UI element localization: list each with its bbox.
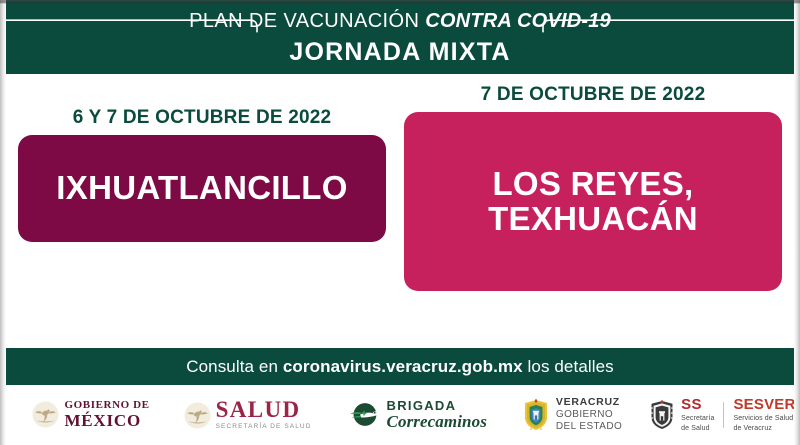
logo-veracruz-gobierno: VERACRUZ GOBIERNO DEL ESTADO bbox=[521, 396, 622, 433]
location-name-box: IXHUATLANCILLO bbox=[18, 135, 386, 242]
page-edge-top bbox=[0, 0, 800, 4]
logo-text: SALUD SECRETARÍA DE SALUD bbox=[216, 398, 312, 431]
logo-ss-secretaria-de-salud: SS Secretaría de Salud bbox=[648, 397, 714, 432]
header-deco-line-right bbox=[538, 19, 800, 33]
logo-text: SS Secretaría de Salud bbox=[681, 397, 714, 432]
veracruz-health-seal-icon bbox=[648, 400, 676, 430]
logo-divider bbox=[723, 402, 724, 428]
salud-line1: SALUD bbox=[216, 398, 312, 421]
consult-url[interactable]: coronavirus.veracruz.gob.mx bbox=[283, 357, 523, 376]
ss-line2b: de Salud bbox=[681, 424, 714, 433]
location-name: IXHUATLANCILLO bbox=[56, 171, 347, 206]
roadrunner-bird-logo-icon bbox=[348, 401, 382, 428]
header-deco-line-left bbox=[0, 19, 262, 33]
veracruz-line2: GOBIERNO bbox=[556, 409, 622, 421]
logo-text: VERACRUZ GOBIERNO DEL ESTADO bbox=[556, 396, 622, 433]
sesver-line2b: de Veracruz bbox=[733, 424, 795, 433]
veracruz-coat-of-arms-icon bbox=[521, 399, 551, 431]
salud-line2: SECRETARÍA DE SALUD bbox=[216, 423, 312, 431]
consult-suffix: los detalles bbox=[523, 357, 614, 376]
header-banner: PLAN DE VACUNACIÓN CONTRA COVID-19 JORNA… bbox=[0, 0, 800, 74]
location-name-box: LOS REYES, TEXHUACÁN bbox=[404, 112, 782, 291]
poster-root: PLAN DE VACUNACIÓN CONTRA COVID-19 JORNA… bbox=[0, 0, 800, 445]
logo-brigada-correcaminos: BRIGADA Correcaminos bbox=[348, 399, 487, 430]
brigada-line1: BRIGADA bbox=[387, 399, 487, 413]
logo-sesver: SESVER Servicios de Salud de Veracruz bbox=[733, 397, 795, 432]
location-card-ixhuatlancillo: 6 Y 7 DE OCTUBRE DE 2022 IXHUATLANCILLO bbox=[18, 108, 386, 242]
header-subtitle: JORNADA MIXTA bbox=[289, 38, 510, 67]
sesver-line2: Servicios de Salud de Veracruz bbox=[733, 414, 795, 432]
ss-line1: SS bbox=[681, 397, 714, 412]
sesver-line1: SESVER bbox=[733, 397, 795, 412]
logo-text: SESVER Servicios de Salud de Veracruz bbox=[733, 397, 795, 432]
logo-gobierno-de-mexico: GOBIERNO DE MÉXICO bbox=[32, 400, 149, 429]
location-date: 7 DE OCTUBRE DE 2022 bbox=[404, 85, 782, 104]
location-name-line1: LOS REYES, bbox=[488, 167, 698, 202]
location-name: LOS REYES, TEXHUACÁN bbox=[488, 167, 698, 237]
page-edge-left bbox=[0, 0, 6, 445]
mexican-eagle-seal-icon bbox=[184, 402, 211, 429]
ss-line2a: Secretaría bbox=[681, 414, 714, 423]
location-name-line2: TEXHUACÁN bbox=[488, 202, 698, 237]
main-content-area: 6 Y 7 DE OCTUBRE DE 2022 IXHUATLANCILLO … bbox=[0, 74, 800, 348]
ss-line2: Secretaría de Salud bbox=[681, 414, 714, 432]
consult-text: Consulta en coronavirus.veracruz.gob.mx … bbox=[186, 357, 614, 377]
brigada-line2: Correcaminos bbox=[387, 413, 487, 431]
veracruz-line3: DEL ESTADO bbox=[556, 421, 622, 433]
page-edge-right bbox=[794, 0, 800, 445]
consult-prefix: Consulta en bbox=[186, 357, 283, 376]
logo-bar: GOBIERNO DE MÉXICO bbox=[0, 385, 800, 445]
sesver-line2a: Servicios de Salud bbox=[733, 414, 795, 423]
location-card-los-reyes-texhuacan: 7 DE OCTUBRE DE 2022 LOS REYES, TEXHUACÁ… bbox=[404, 85, 782, 291]
consult-band: Consulta en coronavirus.veracruz.gob.mx … bbox=[0, 348, 800, 385]
logo-text: BRIGADA Correcaminos bbox=[387, 399, 487, 430]
logo-salud: SALUD SECRETARÍA DE SALUD bbox=[184, 398, 312, 431]
logo-text: GOBIERNO DE MÉXICO bbox=[64, 400, 149, 429]
mexican-eagle-seal-icon bbox=[32, 401, 59, 428]
header-subtitle-row: JORNADA MIXTA bbox=[0, 36, 800, 68]
gobierno-line2: MÉXICO bbox=[64, 412, 149, 430]
location-date: 6 Y 7 DE OCTUBRE DE 2022 bbox=[18, 108, 386, 127]
veracruz-line1: VERACRUZ bbox=[556, 396, 622, 409]
